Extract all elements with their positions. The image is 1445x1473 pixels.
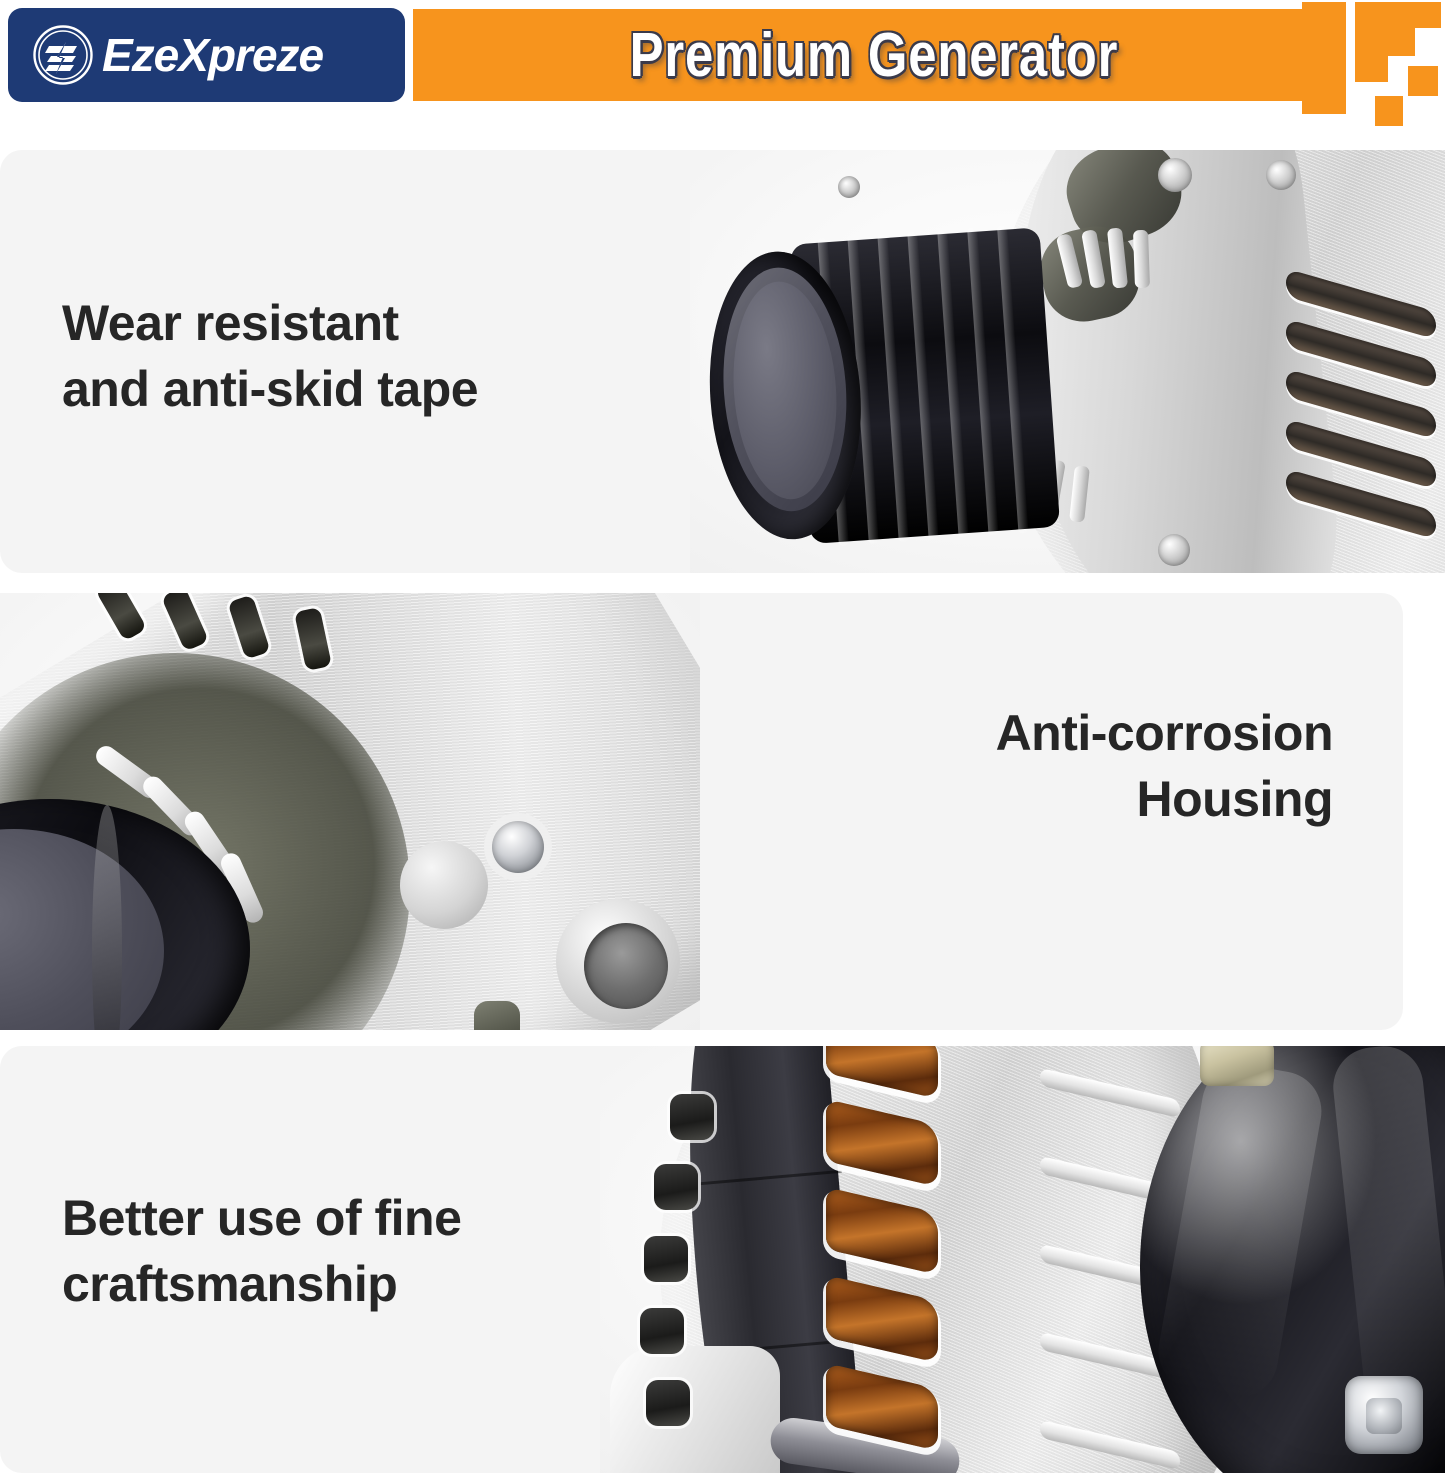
- mount-bore: [584, 923, 668, 1009]
- feature-caption-2: Anti-corrosion Housing: [996, 700, 1333, 832]
- housing-screw: [492, 821, 544, 873]
- top-terminal-screw: [1200, 1046, 1274, 1086]
- mounting-boss: [400, 841, 488, 929]
- feature-caption-3: Better use of fine craftsmanship: [62, 1185, 461, 1317]
- cooling-vent-group: [1286, 290, 1445, 573]
- alternator-housing-image: [0, 593, 700, 1030]
- title-banner: Premium Generator: [413, 9, 1335, 101]
- alternator-pulley-closeup-image: [690, 150, 1445, 573]
- housing-slot: [474, 1001, 520, 1030]
- copper-winding-group: [826, 1046, 1076, 1473]
- brand-bar: EzeXpreze: [8, 8, 405, 102]
- housing-foot: [610, 1346, 780, 1473]
- terminal-stud: [1366, 1398, 1402, 1434]
- alternator-stator-image: [600, 1046, 1445, 1473]
- circle-lightning-z-logo-icon: [32, 24, 94, 86]
- brand-name: EzeXpreze: [102, 28, 323, 82]
- page-header: EzeXpreze Premium Generator: [0, 0, 1445, 120]
- feature-caption-1: Wear resistant and anti-skid tape: [62, 290, 478, 422]
- page-title: Premium Generator: [630, 20, 1119, 91]
- serpentine-pulley: [700, 222, 1140, 551]
